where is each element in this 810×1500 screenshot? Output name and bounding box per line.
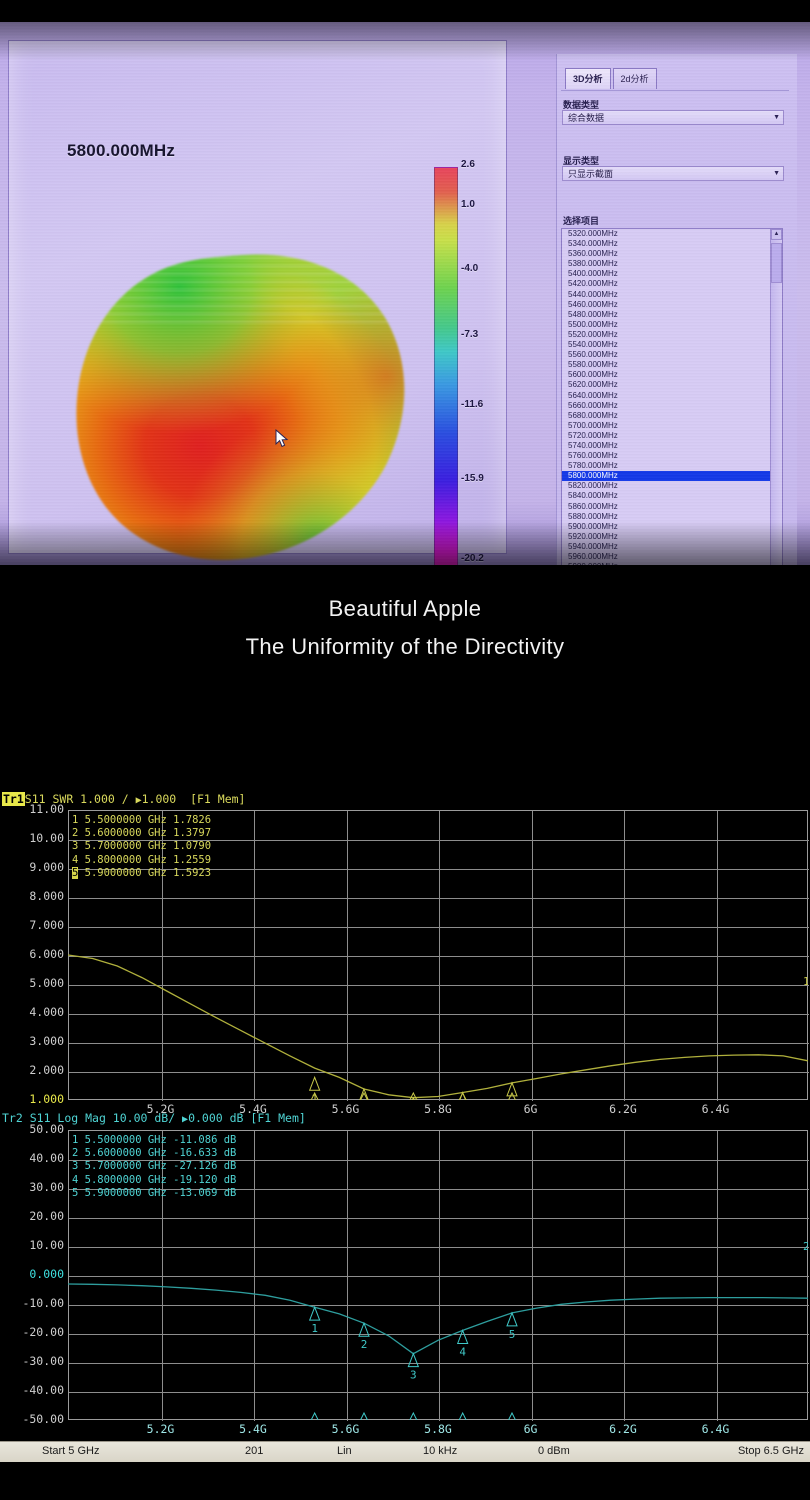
x-axis-label: 5.6G	[318, 1102, 374, 1116]
tab-3d-analysis[interactable]: 3D分析	[565, 68, 611, 89]
colorbar-tick-6: -20.2	[461, 553, 484, 564]
frequency-list-item[interactable]: 5580.000MHz	[562, 360, 771, 370]
x-axis-marker-icon[interactable]	[407, 1413, 419, 1420]
y-axis-label: 5.000	[0, 976, 64, 990]
x-axis-label: 6G	[503, 1102, 559, 1116]
x-axis-label: 6.4G	[688, 1422, 744, 1436]
screenshot-root: 5800.000MHz	[0, 0, 810, 1500]
frequency-list-item[interactable]: 5440.000MHz	[562, 290, 771, 300]
x-axis-label: 5.4G	[225, 1422, 281, 1436]
frequency-list-item[interactable]: 5400.000MHz	[562, 269, 771, 279]
frequency-list-item[interactable]: 5640.000MHz	[562, 391, 771, 401]
svg-text:2: 2	[361, 1338, 368, 1351]
frequency-list-item[interactable]: 5360.000MHz	[562, 249, 771, 259]
colorbar-tick-0: 2.6	[461, 159, 475, 170]
status-power[interactable]: 0 dBm	[538, 1445, 570, 1457]
status-points[interactable]: 201	[245, 1445, 263, 1457]
frequency-list-item[interactable]: 5660.000MHz	[562, 401, 771, 411]
svg-text:1: 1	[311, 1322, 318, 1335]
colorbar-tick-4: -11.6	[461, 399, 483, 410]
x-axis-label: 5.6G	[318, 1422, 374, 1436]
frequency-list-item[interactable]: 5500.000MHz	[562, 320, 771, 330]
frequency-list-item[interactable]: 5900.000MHz	[562, 522, 771, 532]
status-stop-freq[interactable]: Stop 6.5 GHz	[738, 1445, 804, 1457]
display-type-dropdown[interactable]: 只显示截面 ▼	[562, 166, 784, 181]
y-axis-label: 7.000	[0, 918, 64, 932]
trace-marker[interactable]: 5	[507, 1313, 517, 1341]
frequency-list-item[interactable]: 5980.000MHz	[562, 562, 771, 565]
vna-screenshot: Tr1S11 SWR 1.000 / ▶1.000 [F1 Mem] 11.00…	[0, 762, 810, 1462]
y-axis-label: 40.00	[0, 1151, 64, 1165]
frequency-list-item[interactable]: 5560.000MHz	[562, 350, 771, 360]
plot-frequency-title: 5800.000MHz	[67, 141, 175, 161]
caption-line-1: Beautiful Apple	[0, 590, 810, 628]
frequency-list-item[interactable]: 5520.000MHz	[562, 330, 771, 340]
frequency-list-item[interactable]: 5800.000MHz	[562, 471, 771, 481]
status-start-freq[interactable]: Start 5 GHz	[42, 1445, 99, 1457]
select-item-label: 选择项目	[563, 214, 599, 227]
y-axis-label: 2.000	[0, 1063, 64, 1077]
trace-marker[interactable]: 2	[359, 1323, 369, 1351]
trace2-memory: [F1 Mem]	[250, 1111, 305, 1125]
trace-marker[interactable]: 4	[458, 1330, 468, 1358]
pattern-plot-panel: 5800.000MHz	[8, 40, 507, 554]
y-axis-label: 11.00	[0, 802, 64, 816]
data-type-dropdown[interactable]: 综合数据 ▼	[562, 110, 784, 125]
frequency-list-item[interactable]: 5720.000MHz	[562, 431, 771, 441]
frequency-listbox[interactable]: 5320.000MHz5340.000MHz5360.000MHz5380.00…	[561, 228, 783, 565]
colorbar-tick-5: -15.9	[461, 473, 484, 484]
data-type-value: 综合数据	[568, 111, 604, 124]
trace1-ref-value: 1.000	[142, 792, 177, 806]
y-axis-label: -40.00	[0, 1383, 64, 1397]
y-axis-label: -30.00	[0, 1354, 64, 1368]
frequency-list-item[interactable]: 5540.000MHz	[562, 340, 771, 350]
panel-divider	[561, 90, 789, 91]
x-axis-label: 6G	[503, 1422, 559, 1436]
scrollbar-thumb[interactable]	[771, 243, 782, 283]
frequency-list-item[interactable]: 5600.000MHz	[562, 370, 771, 380]
antenna-pattern-photo: 5800.000MHz	[0, 22, 810, 565]
frequency-list-item[interactable]: 5880.000MHz	[562, 512, 771, 522]
svg-text:5: 5	[509, 1328, 516, 1341]
frequency-list-item[interactable]: 5820.000MHz	[562, 481, 771, 491]
x-axis-label: 5.8G	[410, 1422, 466, 1436]
tab-2d-analysis[interactable]: 2d分析	[613, 68, 657, 89]
y-axis-label: 20.00	[0, 1209, 64, 1223]
y-axis-label: 10.00	[0, 1238, 64, 1252]
x-axis-marker-icon[interactable]	[506, 1413, 518, 1420]
colorbar-tick-3: -7.3	[461, 329, 478, 340]
svg-text:4: 4	[459, 1345, 466, 1358]
display-type-value: 只显示截面	[568, 167, 613, 180]
x-axis-label: 5.2G	[133, 1422, 189, 1436]
trace2-curve: 123452	[68, 1130, 808, 1420]
frequency-list-item[interactable]: 5460.000MHz	[562, 300, 771, 310]
frequency-list-item[interactable]: 5700.000MHz	[562, 421, 771, 431]
frequency-list-item[interactable]: 5860.000MHz	[562, 502, 771, 512]
x-axis-marker-icon[interactable]	[358, 1413, 370, 1420]
y-axis-label: 4.000	[0, 1005, 64, 1019]
frequency-list-item[interactable]: 5680.000MHz	[562, 411, 771, 421]
frequency-list-item[interactable]: 5920.000MHz	[562, 532, 771, 542]
frequency-list-item[interactable]: 5960.000MHz	[562, 552, 771, 562]
mouse-cursor-icon	[275, 429, 289, 448]
listbox-scrollbar[interactable]: ▲ ▼	[770, 229, 782, 565]
chevron-down-icon: ▼	[773, 170, 780, 177]
frequency-list[interactable]: 5320.000MHz5340.000MHz5360.000MHz5380.00…	[562, 229, 771, 565]
chevron-down-icon: ▼	[773, 114, 780, 121]
y-axis-label: 9.000	[0, 860, 64, 874]
frequency-list-item[interactable]: 5420.000MHz	[562, 279, 771, 289]
y-axis-label: 8.000	[0, 889, 64, 903]
frequency-list-item[interactable]: 5340.000MHz	[562, 239, 771, 249]
y-axis-label: 50.00	[0, 1122, 64, 1136]
y-axis-label: -20.00	[0, 1325, 64, 1339]
x-axis-label: 5.8G	[410, 1102, 466, 1116]
trace1-curve: 123451	[68, 810, 808, 1100]
colorbar-tick-2: -4.0	[461, 263, 478, 274]
trace-marker[interactable]: 1	[310, 1307, 320, 1335]
y-axis-label: 10.00	[0, 831, 64, 845]
trace2-ref-value: 0.000 dB	[188, 1111, 243, 1125]
trace-marker[interactable]: 3	[408, 1354, 418, 1382]
analysis-control-panel: 3D分析 2d分析 数据类型 综合数据 ▼ 显示类型 只显示截面 ▼ 选择项目 …	[556, 54, 797, 565]
frequency-list-item[interactable]: 5740.000MHz	[562, 441, 771, 451]
y-axis-label: 1.000	[0, 1092, 64, 1106]
y-axis-label: 6.000	[0, 947, 64, 961]
trace-end-label: 2	[803, 1240, 808, 1253]
status-ifbw[interactable]: 10 kHz	[423, 1445, 457, 1457]
pattern-colorbar	[434, 167, 458, 565]
x-axis-marker-icon[interactable]	[457, 1093, 469, 1100]
trace-marker[interactable]: 1	[310, 1077, 320, 1100]
trace-marker[interactable]: 2	[359, 1089, 369, 1100]
frequency-list-item[interactable]: 5480.000MHz	[562, 310, 771, 320]
frequency-list-item[interactable]: 5840.000MHz	[562, 491, 771, 501]
x-axis-label: 6.4G	[688, 1102, 744, 1116]
x-axis-label: 6.2G	[595, 1102, 651, 1116]
x-axis-label: 6.2G	[595, 1422, 651, 1436]
vna-status-bar: Start 5 GHz 201 Lin 10 kHz 0 dBm Stop 6.…	[0, 1441, 810, 1463]
frequency-list-item[interactable]: 5380.000MHz	[562, 259, 771, 269]
x-axis-marker-icon[interactable]	[457, 1413, 469, 1420]
analysis-tabs: 3D分析 2d分析	[565, 68, 657, 89]
bottom-letterbox	[0, 1462, 810, 1500]
trace-end-label: 1	[803, 975, 808, 988]
x-axis-marker-icon[interactable]	[309, 1413, 321, 1420]
caption-line-2: The Uniformity of the Directivity	[0, 628, 810, 666]
radiation-pattern-3d	[69, 249, 414, 565]
trace1-memory: [F1 Mem]	[190, 792, 245, 806]
status-sweep-type[interactable]: Lin	[337, 1445, 352, 1457]
caption-block: Beautiful Apple The Uniformity of the Di…	[0, 590, 810, 666]
y-axis-label: -50.00	[0, 1412, 64, 1426]
trace-marker[interactable]: 5	[507, 1083, 517, 1100]
svg-text:3: 3	[410, 1369, 417, 1382]
frequency-list-item[interactable]: 5760.000MHz	[562, 451, 771, 461]
frequency-list-item[interactable]: 5780.000MHz	[562, 461, 771, 471]
frequency-list-item[interactable]: 5320.000MHz	[562, 229, 771, 239]
frequency-list-item[interactable]: 5940.000MHz	[562, 542, 771, 552]
caret-up-icon[interactable]: ▲	[771, 229, 782, 240]
y-axis-label: 30.00	[0, 1180, 64, 1194]
y-axis-label: 0.000	[0, 1267, 64, 1281]
y-axis-label: -10.00	[0, 1296, 64, 1310]
frequency-list-item[interactable]: 5620.000MHz	[562, 380, 771, 390]
y-axis-label: 3.000	[0, 1034, 64, 1048]
colorbar-tick-1: 1.0	[461, 199, 475, 210]
